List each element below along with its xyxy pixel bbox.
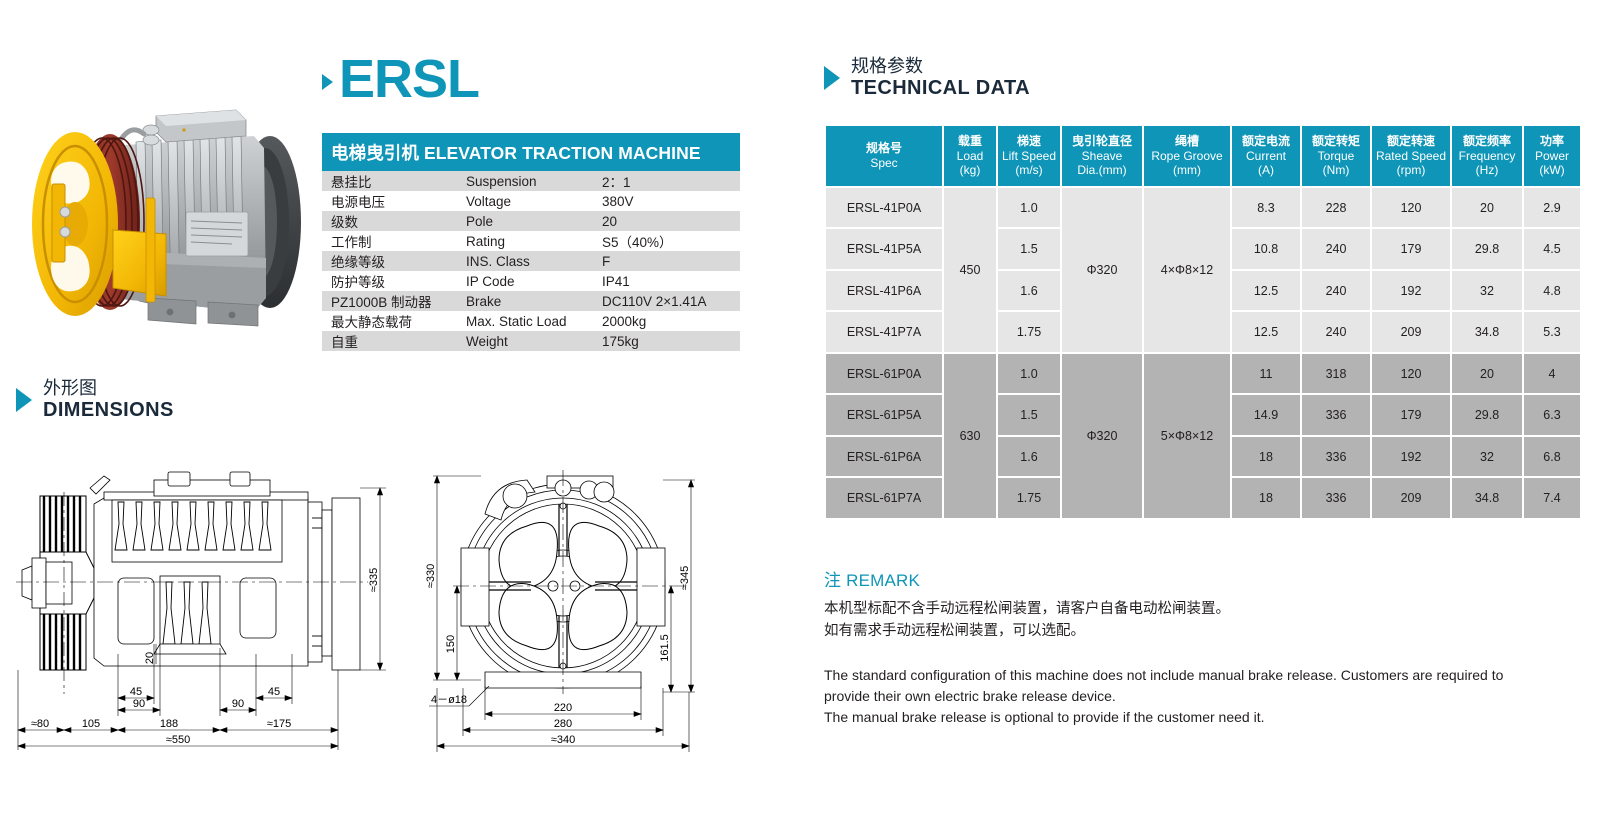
- cell-sheave-dia: Φ320: [1062, 188, 1142, 352]
- column-header-current: 额定电流Current(A): [1232, 126, 1300, 186]
- dim-label-220: 220: [554, 702, 572, 714]
- spec-label-cn: 绝缘等级: [322, 251, 457, 271]
- column-header-load: 载重Load(kg): [944, 126, 996, 186]
- cell-lift-speed: 1.6: [998, 271, 1060, 311]
- spec-label-cn: 级数: [322, 211, 457, 231]
- cell-torque: 240: [1302, 312, 1370, 352]
- cell-spec: ERSL-41P5A: [826, 229, 942, 269]
- spec-label-en: IP Code: [457, 271, 593, 291]
- dim-label-550: ≈550: [166, 734, 190, 746]
- spec-value: S5（40%）: [593, 231, 740, 251]
- spec-row: 电源电压Voltage380V: [322, 191, 740, 211]
- cell-frequency: 29.8: [1452, 395, 1522, 435]
- dim-label-front-1615: 161.5: [659, 634, 671, 662]
- cell-rated-speed: 209: [1372, 478, 1450, 518]
- remark-en-line-2: The manual brake release is optional to …: [824, 707, 1550, 728]
- cell-rated-speed: 120: [1372, 188, 1450, 228]
- cell-power: 5.3: [1524, 312, 1580, 352]
- specification-table-body: 悬挂比Suspension2：1电源电压Voltage380V级数Pole20工…: [322, 171, 740, 351]
- spec-label-cn: 自重: [322, 331, 457, 351]
- technical-data-header-row: 规格号Spec载重Load(kg)梯速Lift Speed(m/s)曳引轮直径S…: [826, 126, 1580, 186]
- dim-label-45-left: 45: [130, 686, 142, 698]
- spec-label-en: Rating: [457, 231, 593, 251]
- front-view-drawing: ≈330 150 ≈345 161.5: [425, 470, 695, 752]
- cell-rated-speed: 179: [1372, 395, 1450, 435]
- spec-row: PZ1000B 制动器BrakeDC110V 2×1.41A: [322, 291, 740, 311]
- side-view-drawing: ≈335: [16, 472, 386, 750]
- cell-rated-speed: 192: [1372, 271, 1450, 311]
- spec-row: 绝缘等级INS. ClassF: [322, 251, 740, 271]
- dimension-drawings: ≈335: [8, 458, 798, 758]
- cell-current: 11: [1232, 354, 1300, 394]
- cell-spec: ERSL-61P5A: [826, 395, 942, 435]
- photo-lifting-eye: [122, 130, 144, 138]
- triangle-right-icon: [824, 66, 840, 90]
- dim-label-90-right: 90: [232, 698, 244, 710]
- datasheet-page: ERSL 电梯曳引机 ELEVATOR TRACTION MACHINE 悬挂比…: [0, 0, 1620, 825]
- column-header-torque: 额定转矩Torque(Nm): [1302, 126, 1370, 186]
- dim-label-front-330: ≈330: [425, 564, 437, 588]
- spec-value: 2：1: [593, 171, 740, 191]
- spec-label-en: Brake: [457, 291, 593, 311]
- table-row: ERSL-41P0A4501.0Φ3204×Φ8×128.3228120202.…: [826, 188, 1580, 228]
- cell-torque: 240: [1302, 229, 1370, 269]
- dim-label-hole-note: 4－ø18: [431, 694, 467, 706]
- spec-value: 20: [593, 211, 740, 231]
- cell-current: 10.8: [1232, 229, 1300, 269]
- technical-data-section-heading: 规格参数 TECHNICAL DATA: [824, 56, 1030, 101]
- cell-rated-speed: 192: [1372, 437, 1450, 477]
- dim-label-front-150: 150: [445, 635, 457, 653]
- cell-spec: ERSL-41P0A: [826, 188, 942, 228]
- technical-heading-cn: 规格参数: [851, 56, 923, 76]
- spec-value: 2000kg: [593, 311, 740, 331]
- cell-torque: 336: [1302, 478, 1370, 518]
- dimensions-section-heading: 外形图 DIMENSIONS: [16, 378, 174, 423]
- triangle-right-icon: [16, 388, 32, 412]
- spec-row: 自重Weight175kg: [322, 331, 740, 351]
- dim-label-340: ≈340: [551, 734, 575, 746]
- cell-rated-speed: 179: [1372, 229, 1450, 269]
- spec-label-en: Pole: [457, 211, 593, 231]
- photo-guard-plate: [113, 230, 166, 296]
- column-header-sheave: 曳引轮直径SheaveDia.(mm): [1062, 126, 1142, 186]
- cell-lift-speed: 1.75: [998, 478, 1060, 518]
- cell-torque: 240: [1302, 271, 1370, 311]
- cell-power: 6.8: [1524, 437, 1580, 477]
- dim-label-280: 280: [554, 718, 572, 730]
- dim-label-80: ≈80: [31, 718, 49, 730]
- spec-value: 380V: [593, 191, 740, 211]
- cell-load: 450: [944, 188, 996, 352]
- spec-row: 工作制RatingS5（40%）: [322, 231, 740, 251]
- cell-power: 2.9: [1524, 188, 1580, 228]
- cell-lift-speed: 1.0: [998, 354, 1060, 394]
- product-photo-traction-machine: [18, 72, 314, 368]
- cell-torque: 336: [1302, 437, 1370, 477]
- cell-frequency: 20: [1452, 188, 1522, 228]
- spec-label-cn: PZ1000B 制动器: [322, 291, 457, 311]
- spec-label-cn: 工作制: [322, 231, 457, 251]
- column-header-spec: 规格号Spec: [826, 126, 942, 186]
- cell-current: 18: [1232, 478, 1300, 518]
- cell-frequency: 20: [1452, 354, 1522, 394]
- cell-lift-speed: 1.6: [998, 437, 1060, 477]
- remark-block: 注 REMARK 本机型标配不含手动远程松闸装置，请客户自备电动松闸装置。 如有…: [824, 566, 1554, 728]
- column-header-lift-speed: 梯速Lift Speed(m/s): [998, 126, 1060, 186]
- cell-frequency: 34.8: [1452, 478, 1522, 518]
- spec-value: DC110V 2×1.41A: [593, 291, 740, 311]
- spec-label-en: Suspension: [457, 171, 593, 191]
- column-header-rated-speed: 额定转速Rated Speed(rpm): [1372, 126, 1450, 186]
- cell-sheave-dia: Φ320: [1062, 354, 1142, 518]
- spec-label-en: Voltage: [457, 191, 593, 211]
- column-header-frequency: 额定频率Frequency(Hz): [1452, 126, 1522, 186]
- dim-label-20: 20: [144, 652, 156, 664]
- spec-row: 级数Pole20: [322, 211, 740, 231]
- cell-spec: ERSL-41P7A: [826, 312, 942, 352]
- spec-label-cn: 电源电压: [322, 191, 457, 211]
- cell-power: 6.3: [1524, 395, 1580, 435]
- dim-label-side-height: ≈335: [368, 568, 380, 592]
- photo-nameplate: [186, 212, 248, 256]
- remark-cn-line-2: 如有需求手动远程松闸装置，可以选配。: [824, 620, 1554, 642]
- cell-current: 12.5: [1232, 312, 1300, 352]
- spec-value: F: [593, 251, 740, 271]
- remark-cn-line-1: 本机型标配不含手动远程松闸装置，请客户自备电动松闸装置。: [824, 598, 1554, 620]
- remark-title: 注 REMARK: [824, 566, 1554, 591]
- cell-frequency: 32: [1452, 437, 1522, 477]
- cell-current: 14.9: [1232, 395, 1300, 435]
- cell-torque: 318: [1302, 354, 1370, 394]
- spec-label-en: Weight: [457, 331, 593, 351]
- technical-data-table-head: 规格号Spec载重Load(kg)梯速Lift Speed(m/s)曳引轮直径S…: [826, 126, 1580, 186]
- cell-current: 18: [1232, 437, 1300, 477]
- technical-heading-en: TECHNICAL DATA: [851, 77, 1030, 99]
- spec-value: IP41: [593, 271, 740, 291]
- technical-data-table: 规格号Spec载重Load(kg)梯速Lift Speed(m/s)曳引轮直径S…: [824, 124, 1582, 520]
- specification-table: 悬挂比Suspension2：1电源电压Voltage380V级数Pole20工…: [322, 171, 740, 351]
- cell-power: 7.4: [1524, 478, 1580, 518]
- cell-rated-speed: 120: [1372, 354, 1450, 394]
- cell-lift-speed: 1.0: [998, 188, 1060, 228]
- cell-torque: 336: [1302, 395, 1370, 435]
- dim-label-front-345: ≈345: [679, 566, 691, 590]
- cell-frequency: 29.8: [1452, 229, 1522, 269]
- spec-label-cn: 防护等级: [322, 271, 457, 291]
- cell-spec: ERSL-61P7A: [826, 478, 942, 518]
- triangle-right-icon: [322, 74, 333, 90]
- table-row: ERSL-61P0A6301.0Φ3205×Φ8×1211318120204: [826, 354, 1580, 394]
- spec-value: 175kg: [593, 331, 740, 351]
- dimensions-heading-en: DIMENSIONS: [43, 399, 174, 421]
- cell-current: 8.3: [1232, 188, 1300, 228]
- cell-lift-speed: 1.5: [998, 395, 1060, 435]
- column-header-rope-groove: 绳槽Rope Groove(mm): [1144, 126, 1230, 186]
- dim-label-90-left: 90: [133, 698, 145, 710]
- dim-label-188: 188: [160, 718, 178, 730]
- spec-row: 悬挂比Suspension2：1: [322, 171, 740, 191]
- cell-rope-groove: 5×Φ8×12: [1144, 354, 1230, 518]
- spec-row: 最大静态载荷Max. Static Load2000kg: [322, 311, 740, 331]
- photo-sheave-guard-yellow: [32, 132, 118, 316]
- dimensions-heading-cn: 外形图: [43, 378, 97, 398]
- brand-name: ERSL: [339, 52, 479, 106]
- brand-title-block: ERSL: [322, 52, 740, 106]
- column-header-power: 功率Power(kW): [1524, 126, 1580, 186]
- cell-power: 4.8: [1524, 271, 1580, 311]
- spec-row: 防护等级IP CodeIP41: [322, 271, 740, 291]
- spec-label-cn: 悬挂比: [322, 171, 457, 191]
- cell-rope-groove: 4×Φ8×12: [1144, 188, 1230, 352]
- dim-label-105: 105: [82, 718, 100, 730]
- cell-load: 630: [944, 354, 996, 518]
- remark-en-line-1: The standard configuration of this machi…: [824, 665, 1550, 707]
- cell-power: 4: [1524, 354, 1580, 394]
- spec-label-en: Max. Static Load: [457, 311, 593, 331]
- cell-lift-speed: 1.75: [998, 312, 1060, 352]
- spec-panel-header: 电梯曳引机 ELEVATOR TRACTION MACHINE: [322, 133, 740, 171]
- spec-label-en: INS. Class: [457, 251, 593, 271]
- spec-label-cn: 最大静态载荷: [322, 311, 457, 331]
- cell-lift-speed: 1.5: [998, 229, 1060, 269]
- cell-power: 4.5: [1524, 229, 1580, 269]
- cell-current: 12.5: [1232, 271, 1300, 311]
- cell-torque: 228: [1302, 188, 1370, 228]
- cell-frequency: 32: [1452, 271, 1522, 311]
- cell-spec: ERSL-61P6A: [826, 437, 942, 477]
- cell-frequency: 34.8: [1452, 312, 1522, 352]
- dim-label-175: ≈175: [267, 718, 291, 730]
- technical-data-table-body: ERSL-41P0A4501.0Φ3204×Φ8×128.3228120202.…: [826, 188, 1580, 518]
- dim-label-45-right: 45: [268, 686, 280, 698]
- cell-spec: ERSL-41P6A: [826, 271, 942, 311]
- cell-spec: ERSL-61P0A: [826, 354, 942, 394]
- cell-rated-speed: 209: [1372, 312, 1450, 352]
